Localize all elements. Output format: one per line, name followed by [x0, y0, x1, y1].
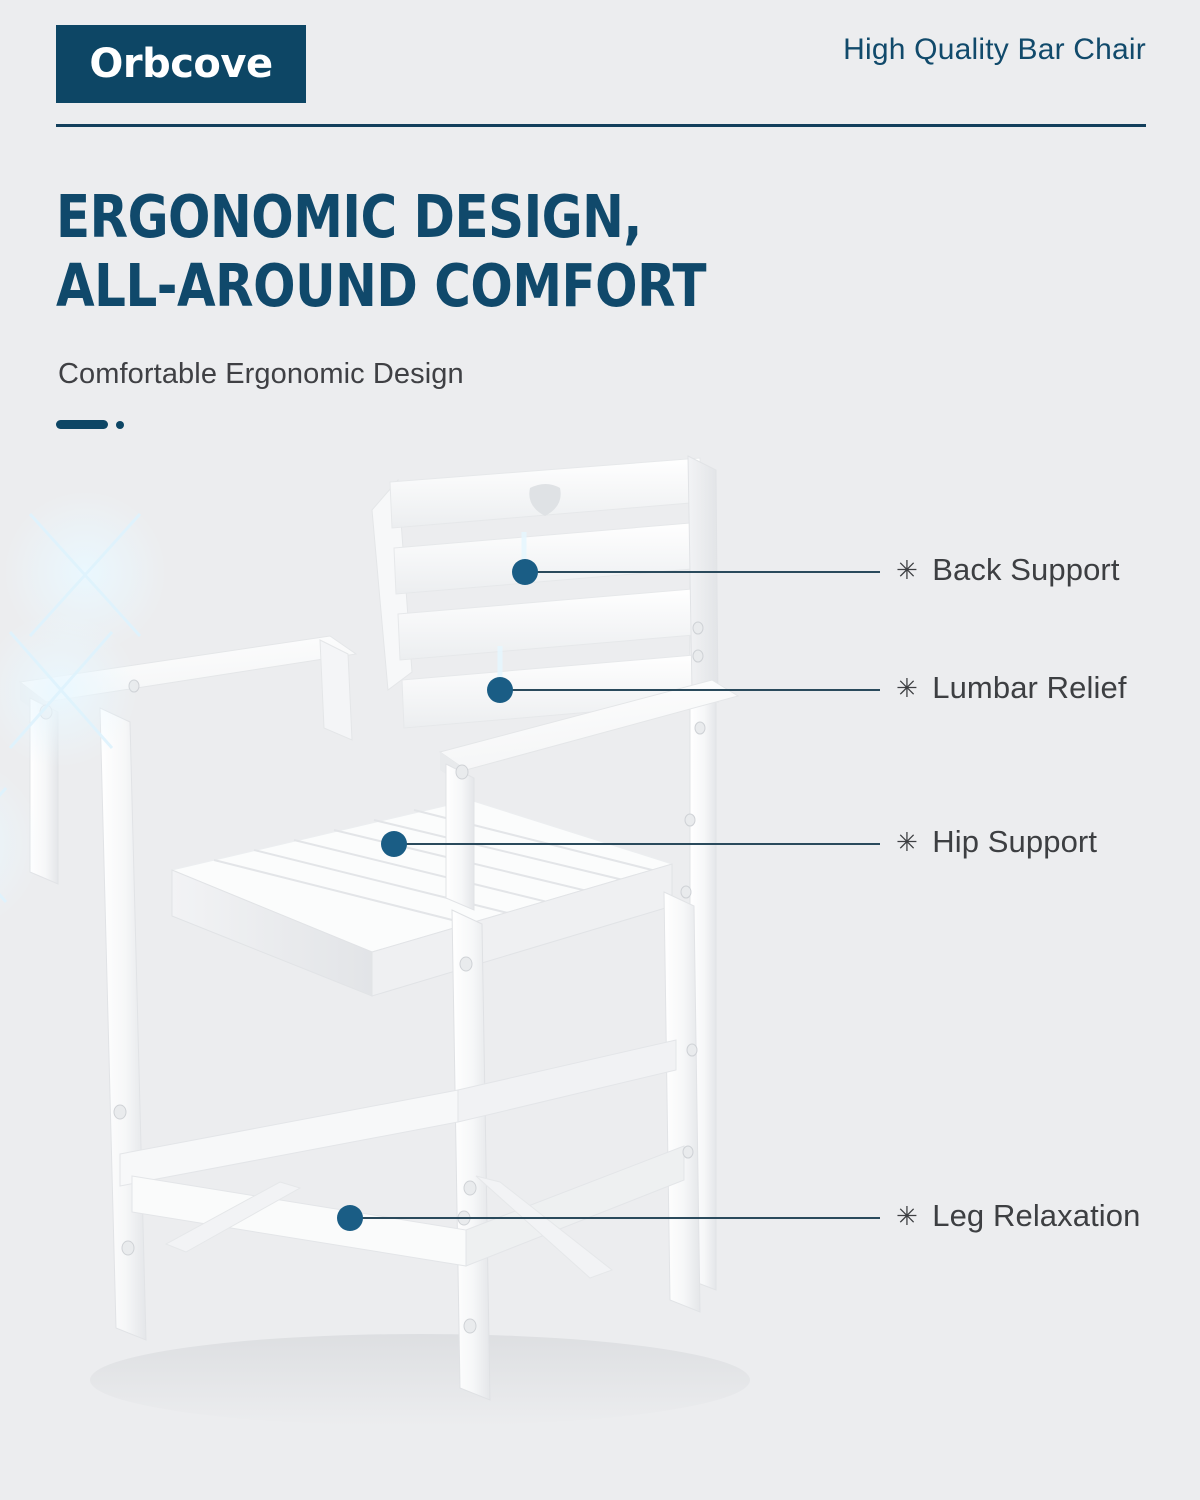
- marker-glows: [0, 490, 167, 932]
- brand-logo-text: Orbcove: [89, 41, 272, 87]
- callout-label: Leg Relaxation: [932, 1198, 1140, 1234]
- asterisk-icon: ✳: [896, 1203, 918, 1229]
- anchor-dot-back-support: [512, 559, 538, 585]
- asterisk-icon: ✳: [896, 557, 918, 583]
- callout-hip-support: ✳ Hip Support: [896, 824, 1097, 860]
- asterisk-icon: ✳: [896, 829, 918, 855]
- floor-shadow: [90, 1334, 750, 1426]
- product-image: [0, 440, 1200, 1500]
- asterisk-icon: ✳: [896, 675, 918, 701]
- callout-label: Back Support: [932, 552, 1119, 588]
- anchor-dot-lumbar-relief: [487, 677, 513, 703]
- footrest-upper-right: [458, 1040, 676, 1122]
- accent-rule: [56, 420, 126, 429]
- header-divider: [56, 124, 1146, 127]
- callout-lumbar-relief: ✳ Lumbar Relief: [896, 670, 1127, 706]
- header-product-title: High Quality Bar Chair: [843, 33, 1146, 67]
- callout-label: Lumbar Relief: [932, 670, 1126, 706]
- accent-dot: [116, 421, 124, 429]
- brand-logo: Orbcove: [56, 25, 306, 103]
- accent-bar: [56, 420, 108, 429]
- callout-leg-relaxation: ✳ Leg Relaxation: [896, 1198, 1140, 1234]
- headline-line-2: ALL-AROUND COMFORT: [56, 251, 902, 320]
- callout-back-support: ✳ Back Support: [896, 552, 1120, 588]
- right-arm-front-post: [446, 764, 474, 910]
- headline-line-1: ERGONOMIC DESIGN,: [56, 182, 642, 251]
- footrest-lower-front: [132, 1176, 466, 1266]
- callout-label: Hip Support: [932, 824, 1097, 860]
- chair-leg-rear-right: [664, 892, 700, 1312]
- left-arm-rear-post: [320, 640, 352, 740]
- infographic-page: Orbcove High Quality Bar Chair ERGONOMIC…: [0, 0, 1200, 1500]
- anchor-dot-leg-relaxation: [337, 1205, 363, 1231]
- footrest-upper-left: [120, 1090, 458, 1186]
- chair-illustration: [0, 440, 1200, 1500]
- backrest-right-stile: [688, 456, 718, 702]
- anchor-dot-hip-support: [381, 831, 407, 857]
- page-title: ERGONOMIC DESIGN, ALL-AROUND COMFORT: [56, 182, 902, 320]
- page-header: Orbcove High Quality Bar Chair: [0, 0, 1200, 128]
- subheadline: Comfortable Ergonomic Design: [58, 358, 464, 391]
